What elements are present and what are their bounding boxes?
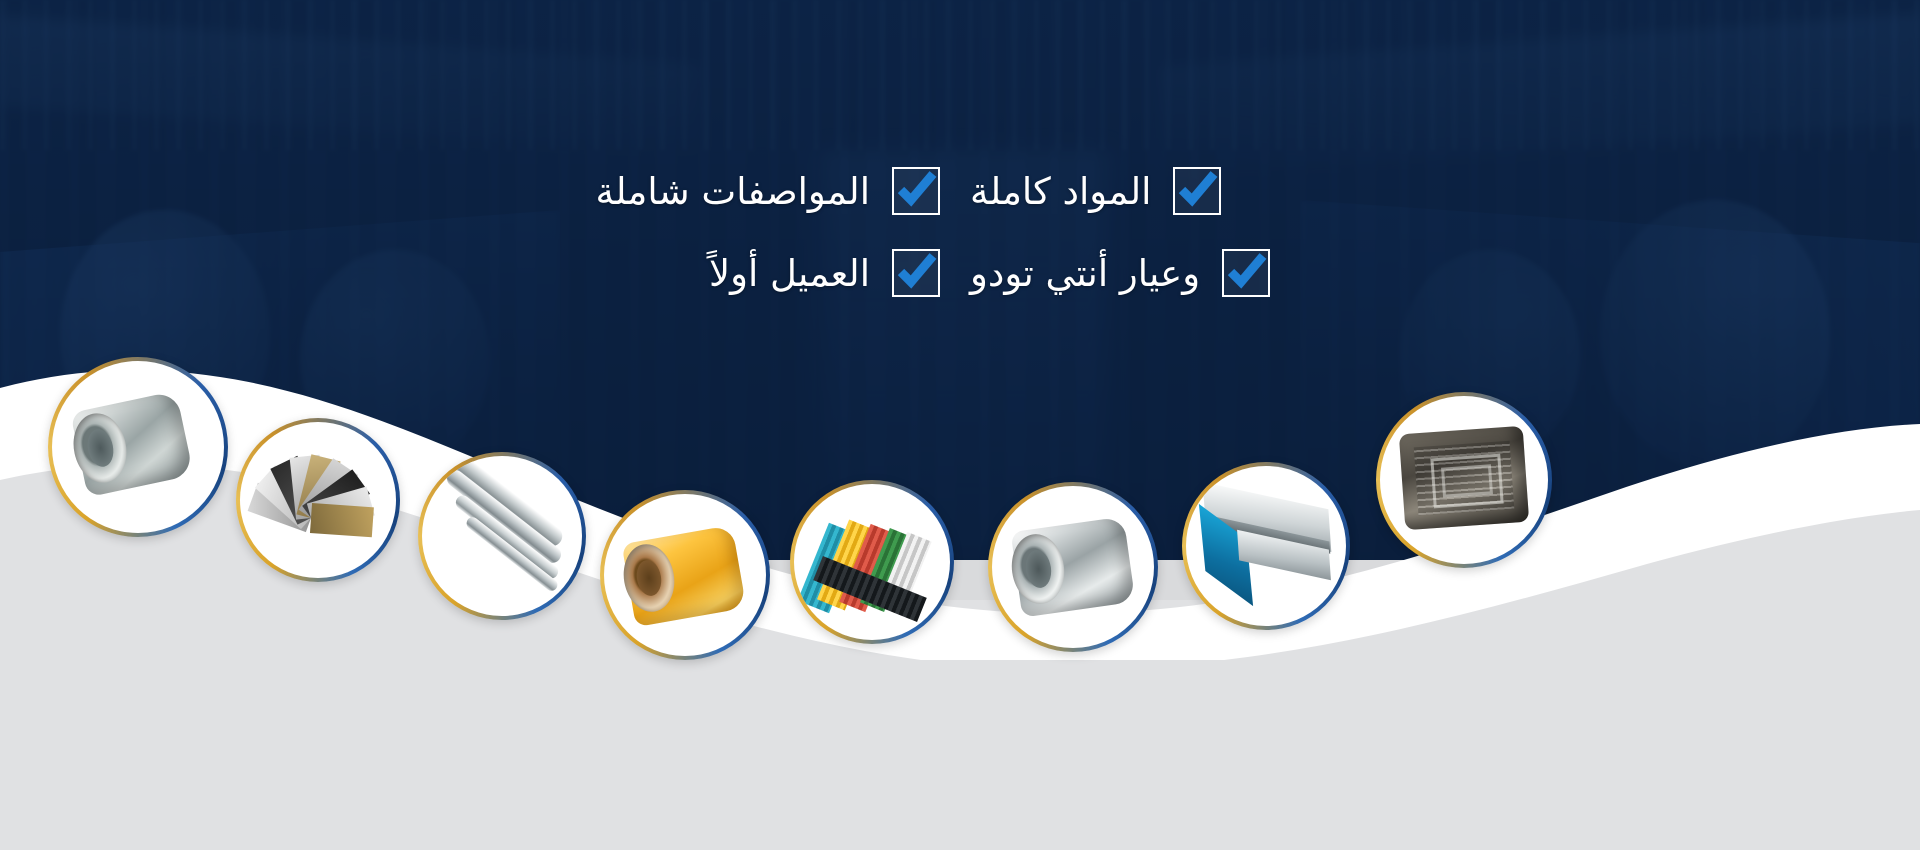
product-circle-aluminium-sheet-blue-film[interactable] bbox=[1182, 462, 1350, 630]
prepainted-coil-yellow-image bbox=[604, 494, 766, 656]
product-circles bbox=[0, 0, 1920, 850]
aluminium-sheet-blue-film-image bbox=[1186, 466, 1346, 626]
product-circle-prepainted-coil-yellow[interactable] bbox=[600, 490, 770, 660]
patterned-steel-coil-image bbox=[1380, 396, 1548, 564]
product-circle-color-sample-swatches[interactable] bbox=[236, 418, 400, 582]
product-circle-galvanized-coil[interactable] bbox=[988, 482, 1158, 652]
hero-banner: المواد كاملة المواصفات شاملة وعيار أنتي … bbox=[0, 0, 1920, 850]
steel-pipes-tubes-image bbox=[422, 456, 582, 616]
product-circle-steel-coil-galvanized[interactable] bbox=[48, 357, 228, 537]
corrugated-color-sheets-image bbox=[794, 484, 950, 640]
product-circle-steel-pipes-tubes[interactable] bbox=[418, 452, 586, 620]
galvanized-coil-image bbox=[992, 486, 1154, 648]
color-sample-swatches-image bbox=[240, 422, 396, 578]
product-circle-corrugated-color-sheets[interactable] bbox=[790, 480, 954, 644]
product-circle-patterned-steel-coil[interactable] bbox=[1376, 392, 1552, 568]
steel-coil-galvanized-image bbox=[52, 361, 224, 533]
